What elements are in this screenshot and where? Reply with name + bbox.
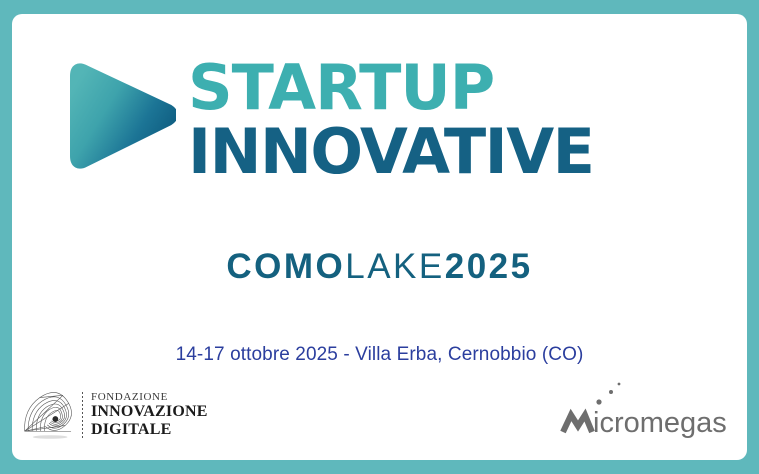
brand-lockup: STARTUP INNOVATIVE <box>12 62 747 202</box>
event-date-venue: 14-17 ottobre 2025 - Villa Erba, Cernobb… <box>12 344 747 366</box>
poster-card: STARTUP INNOVATIVE COMOLAKE2025 14-17 ot… <box>12 14 747 460</box>
micromegas-m-glyph <box>563 415 592 432</box>
fondazione-text: FONDAZIONE INNOVAZIONE DIGITALE <box>91 391 208 439</box>
micromegas-logo: icromegas <box>559 382 729 444</box>
fondazione-line2: INNOVAZIONE <box>91 403 208 421</box>
micromegas-wordmark: icromegas <box>593 407 727 439</box>
event-name-como: COMO <box>226 247 345 286</box>
wordmark-line-startup: STARTUP <box>188 58 594 119</box>
fondazione-line3: DIGITALE <box>91 421 208 439</box>
poster-frame: STARTUP INNOVATIVE COMOLAKE2025 14-17 ot… <box>0 0 759 474</box>
footer-logos: FONDAZIONE INNOVAZIONE DIGITALE icromega… <box>12 376 747 454</box>
nautilus-spiral-icon <box>20 386 78 444</box>
micromegas-dots-icon <box>596 383 620 405</box>
play-triangle-icon <box>58 62 176 172</box>
logo-divider <box>82 392 83 438</box>
wordmark: STARTUP INNOVATIVE <box>188 58 594 183</box>
wordmark-line-innovative: INNOVATIVE <box>188 121 594 183</box>
fondazione-line1: FONDAZIONE <box>91 391 208 403</box>
event-name: COMOLAKE2025 <box>12 247 747 287</box>
event-name-year: 2025 <box>445 247 533 286</box>
fondazione-innovazione-digitale-logo: FONDAZIONE INNOVAZIONE DIGITALE <box>20 384 208 446</box>
event-name-lake: LAKE <box>345 247 445 286</box>
